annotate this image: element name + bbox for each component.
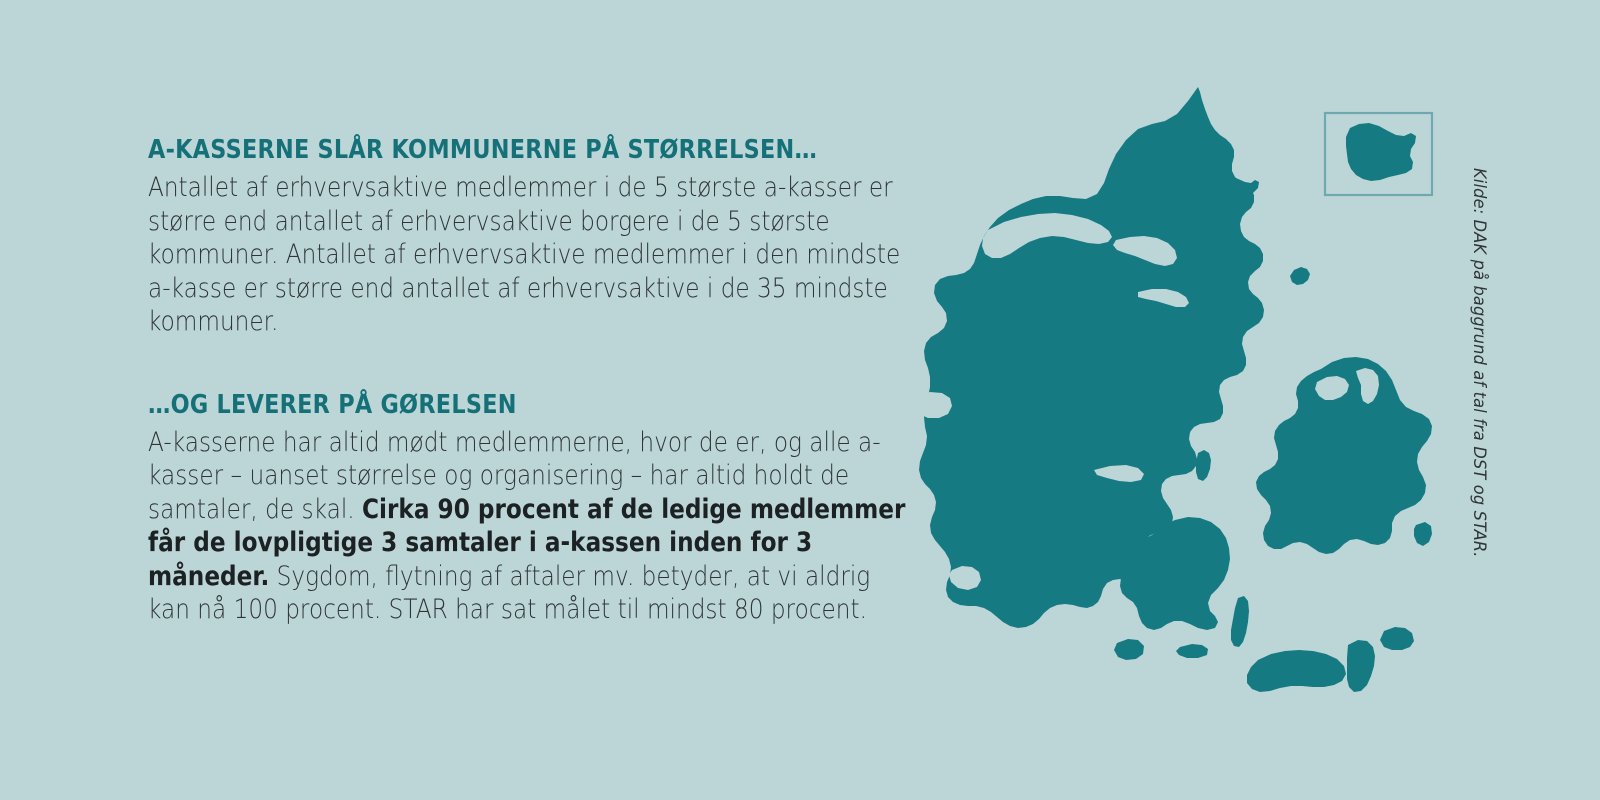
map-island-falster xyxy=(1347,640,1375,692)
denmark-map xyxy=(880,70,1480,710)
section-heading-delivery: …OG LEVERER PÅ GØRELSEN xyxy=(148,391,802,420)
map-island-amager xyxy=(1414,522,1432,546)
map-island-aero xyxy=(1176,644,1208,658)
map-island-samso xyxy=(1196,450,1211,481)
map-island-als xyxy=(1114,639,1144,660)
map-island-mon xyxy=(1380,627,1414,650)
infographic-canvas: A-KASSERNE SLÅR KOMMUNERNE PÅ STØRRELSEN… xyxy=(0,0,1600,800)
section-block-size: A-KASSERNE SLÅR KOMMUNERNE PÅ STØRRELSEN… xyxy=(148,136,908,339)
map-island-lolland xyxy=(1247,650,1346,692)
map-island-bornholm xyxy=(1346,123,1416,181)
section-body-size: Antallet af erhvervsaktive medlemmer i d… xyxy=(148,171,908,339)
map-island-anholt xyxy=(1290,267,1310,285)
map-island-langeland xyxy=(1231,596,1249,647)
section-block-delivery: …OG LEVERER PÅ GØRELSEN A-kasserne har a… xyxy=(148,391,908,627)
section-body-delivery: A-kasserne har altid mødt medlemmerne, h… xyxy=(148,426,908,627)
map-water-west-inlet-1 xyxy=(914,392,952,418)
section-heading-size: A-KASSERNE SLÅR KOMMUNERNE PÅ STØRRELSEN… xyxy=(148,136,802,165)
denmark-map-svg xyxy=(880,70,1480,710)
text-column: A-KASSERNE SLÅR KOMMUNERNE PÅ STØRRELSEN… xyxy=(148,136,908,627)
